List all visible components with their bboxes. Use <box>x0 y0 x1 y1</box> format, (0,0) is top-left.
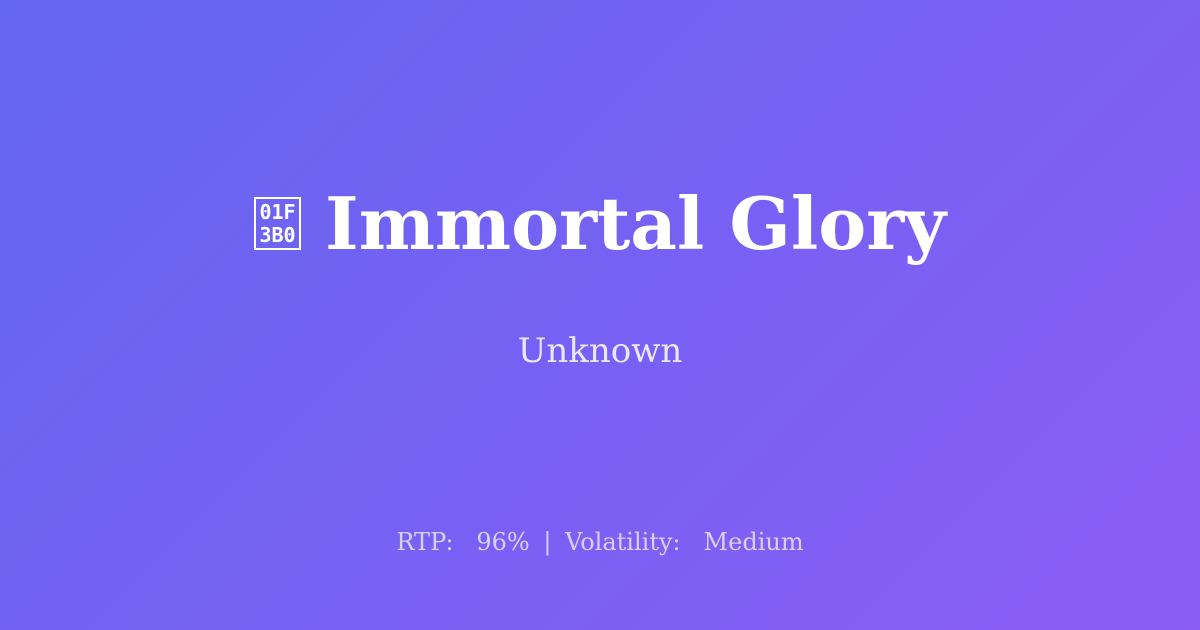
game-provider-subtitle: Unknown <box>518 331 683 372</box>
game-preview-card: 01F 3B0 Immortal Glory Unknown RTP: 96% … <box>0 0 1200 630</box>
volatility-value: Medium <box>704 528 804 556</box>
page-title: Immortal Glory <box>325 186 946 262</box>
volatility-label: Volatility: <box>565 528 681 556</box>
rtp-value: 96% <box>476 528 529 556</box>
title-row: 01F 3B0 Immortal Glory <box>254 186 946 262</box>
meta-separator: | <box>537 528 557 556</box>
game-meta-footer: RTP: 96% | Volatility: Medium <box>0 528 1200 557</box>
tofu-hex-top: 01F <box>259 201 295 224</box>
rtp-label: RTP: <box>396 528 453 556</box>
slot-machine-icon: 01F 3B0 <box>254 197 301 250</box>
tofu-hex-bottom: 3B0 <box>259 224 295 247</box>
